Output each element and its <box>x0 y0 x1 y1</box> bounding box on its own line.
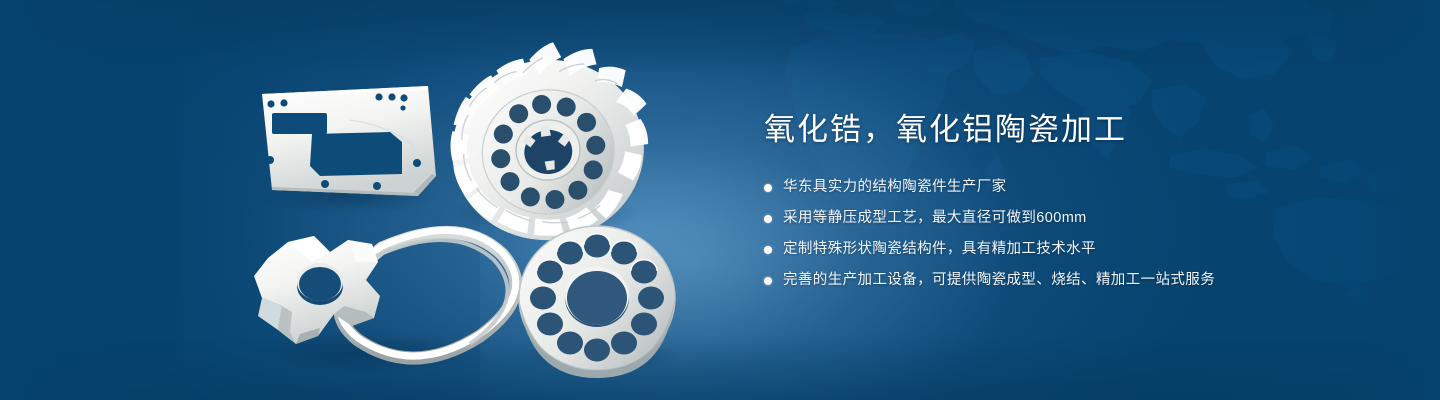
hero-banner: 氧化锆，氧化铝陶瓷加工 华东具实力的结构陶瓷件生产厂家 采用等静压成型工艺，最大… <box>0 0 1440 400</box>
feature-list: 华东具实力的结构陶瓷件生产厂家 采用等静压成型工艺，最大直径可做到600mm 定… <box>764 176 1364 292</box>
list-item-label: 完善的生产加工设备，可提供陶瓷成型、烧结、精加工一站式服务 <box>783 269 1215 292</box>
ceramic-cross-plate <box>254 236 380 344</box>
ceramic-plate <box>262 86 436 196</box>
list-item: 定制特殊形状陶瓷结构件，具有精加工技术水平 <box>764 238 1364 261</box>
list-item: 完善的生产加工设备，可提供陶瓷成型、烧结、精加工一站式服务 <box>764 269 1364 292</box>
list-item: 华东具实力的结构陶瓷件生产厂家 <box>764 176 1364 199</box>
banner-copy: 氧化锆，氧化铝陶瓷加工 华东具实力的结构陶瓷件生产厂家 采用等静压成型工艺，最大… <box>764 110 1364 292</box>
bullet-dot-icon <box>764 184 772 192</box>
bullet-dot-icon <box>764 246 772 254</box>
product-photo-group <box>0 0 720 400</box>
page-title: 氧化锆，氧化铝陶瓷加工 <box>764 110 1364 150</box>
ceramic-perforated-disc <box>519 226 675 378</box>
list-item-label: 采用等静压成型工艺，最大直径可做到600mm <box>783 207 1087 230</box>
bullet-dot-icon <box>764 277 772 285</box>
bullet-dot-icon <box>764 215 772 223</box>
list-item: 采用等静压成型工艺，最大直径可做到600mm <box>764 207 1364 230</box>
list-item-label: 华东具实力的结构陶瓷件生产厂家 <box>783 176 1007 199</box>
list-item-label: 定制特殊形状陶瓷结构件，具有精加工技术水平 <box>783 238 1096 261</box>
